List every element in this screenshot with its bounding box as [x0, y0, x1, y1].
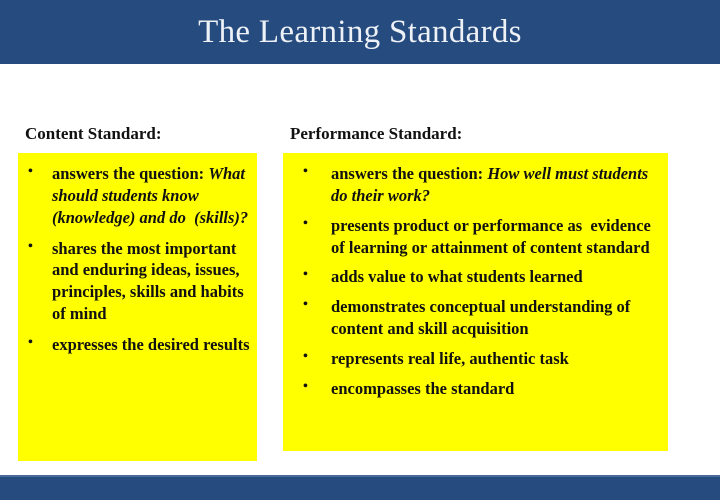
- bullet-dot-icon: •: [303, 378, 317, 397]
- bullet-item: •represents real life, authentic task: [289, 348, 662, 370]
- bullet-dot-icon: •: [303, 163, 317, 182]
- performance-standard-heading: Performance Standard:: [283, 125, 673, 144]
- bullet-text-plain: presents product or performance as evide…: [331, 216, 655, 257]
- bullet-item: •presents product or performance as evid…: [289, 215, 662, 259]
- performance-standard-column: Performance Standard: •answers the quest…: [283, 125, 673, 451]
- bullet-text-plain: adds value to what students learned: [331, 267, 583, 286]
- bullet-text: represents real life, authentic task: [331, 348, 662, 370]
- bullet-item: •shares the most important and enduring …: [24, 238, 251, 326]
- bullet-dot-icon: •: [303, 266, 317, 285]
- bullet-text-plain: encompasses the standard: [331, 379, 514, 398]
- bullet-text: shares the most important and enduring i…: [52, 238, 251, 326]
- bullet-text: answers the question: What should studen…: [52, 163, 251, 229]
- bullet-text-plain: answers the question:: [331, 164, 487, 183]
- title-banner: The Learning Standards: [0, 0, 720, 64]
- bullet-text: demonstrates conceptual understanding of…: [331, 296, 662, 340]
- content-standard-bullet-list: •answers the question: What should stude…: [24, 163, 251, 357]
- bullet-item: •demonstrates conceptual understanding o…: [289, 296, 662, 340]
- bullet-text-plain: demonstrates conceptual understanding of…: [331, 297, 634, 338]
- bullet-text: expresses the desired results: [52, 334, 251, 356]
- bullet-text: answers the question: How well must stud…: [331, 163, 662, 207]
- bullet-item: •answers the question: What should stude…: [24, 163, 251, 229]
- bullet-dot-icon: •: [303, 296, 317, 315]
- bullet-item: •expresses the desired results: [24, 334, 251, 356]
- bullet-dot-icon: •: [28, 163, 42, 182]
- bullet-text: adds value to what students learned: [331, 266, 662, 288]
- content-standard-column: Content Standard: •answers the question:…: [18, 125, 268, 461]
- content-standard-heading: Content Standard:: [18, 125, 268, 144]
- performance-standard-highlight-box: •answers the question: How well must stu…: [283, 153, 668, 451]
- bullet-dot-icon: •: [303, 348, 317, 367]
- bullet-text-plain: answers the question:: [52, 164, 208, 183]
- bullet-text-plain: expresses the desired results: [52, 335, 250, 354]
- bullet-item: •adds value to what students learned: [289, 266, 662, 288]
- content-standard-highlight-box: •answers the question: What should stude…: [18, 153, 257, 461]
- footer-banner: [0, 475, 720, 500]
- bullet-text: encompasses the standard: [331, 378, 662, 400]
- bullet-dot-icon: •: [28, 334, 42, 353]
- bullet-dot-icon: •: [303, 215, 317, 234]
- bullet-text-plain: represents real life, authentic task: [331, 349, 569, 368]
- bullet-text: presents product or performance as evide…: [331, 215, 662, 259]
- performance-standard-bullet-list: •answers the question: How well must stu…: [289, 163, 662, 400]
- bullet-item: •encompasses the standard: [289, 378, 662, 400]
- page-title: The Learning Standards: [198, 16, 522, 49]
- bullet-item: •answers the question: How well must stu…: [289, 163, 662, 207]
- bullet-dot-icon: •: [28, 238, 42, 257]
- bullet-text-plain: shares the most important and enduring i…: [52, 239, 248, 324]
